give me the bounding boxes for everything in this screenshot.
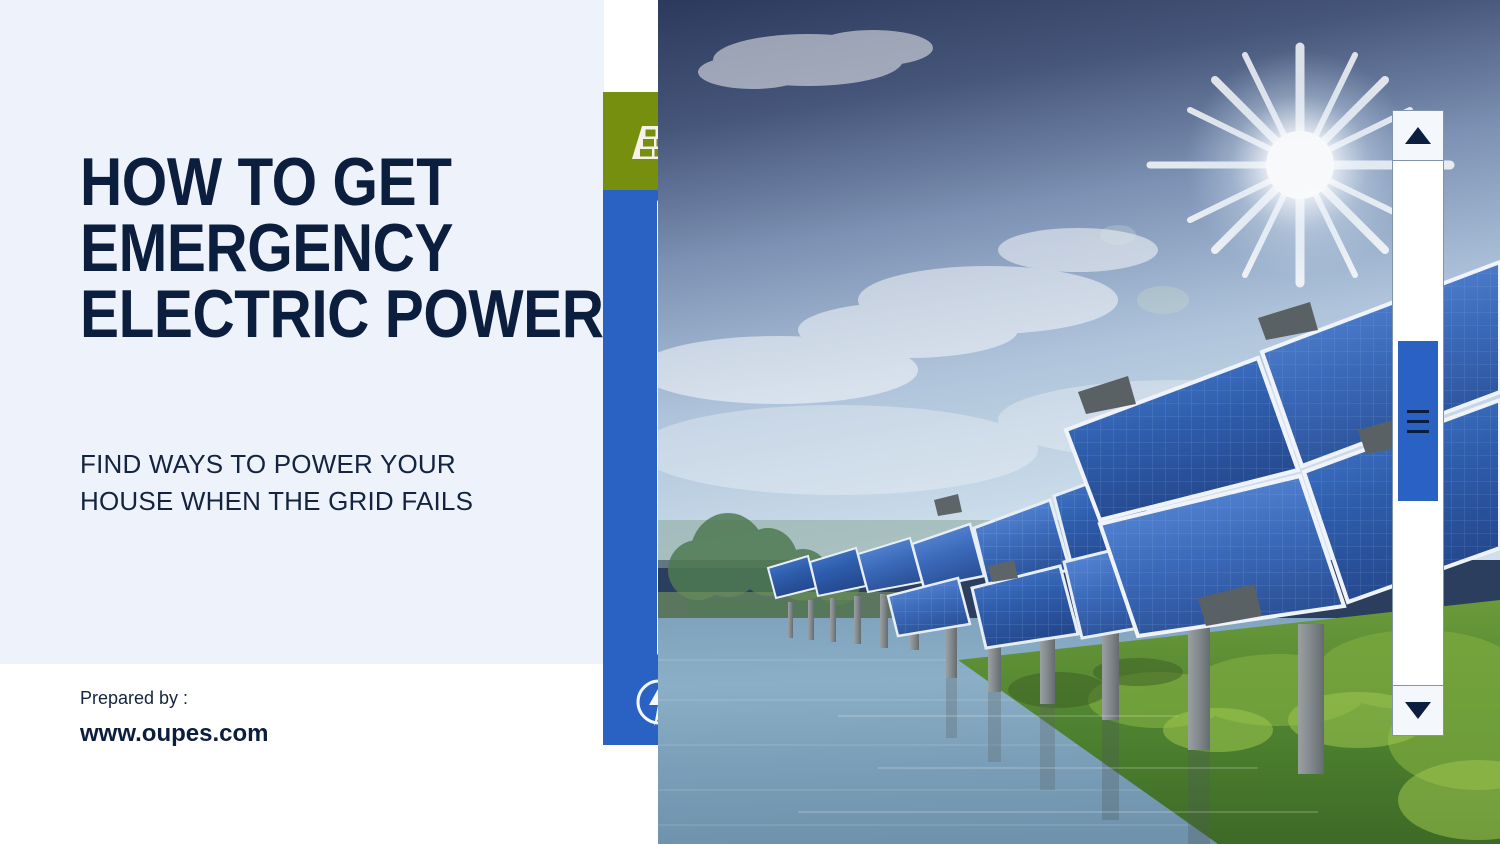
solar-farm-photo (658, 0, 1500, 844)
vertical-scrollbar[interactable] (1392, 110, 1444, 736)
page-title: HOW TO GET EMERGENCY ELECTRIC POWER? (80, 150, 510, 348)
headline-line-2: EMERGENCY (80, 216, 510, 282)
prepared-by-website[interactable]: www.oupes.com (80, 720, 268, 748)
scroll-up-button[interactable] (1393, 111, 1443, 161)
subtitle: FIND WAYS TO POWER YOUR HOUSE WHEN THE G… (80, 446, 500, 520)
scroll-down-button[interactable] (1393, 685, 1443, 735)
headline-line-3: ELECTRIC POWER? (80, 282, 510, 348)
grip-line (1407, 410, 1429, 413)
grip-line (1407, 420, 1429, 423)
prepared-by-label: Prepared by : (80, 688, 188, 709)
presentation-slide: HOW TO GET EMERGENCY ELECTRIC POWER? FIN… (0, 0, 1500, 844)
scrollbar-thumb[interactable] (1398, 341, 1438, 501)
scroll-down-arrow-icon (1405, 702, 1431, 719)
headline-line-1: HOW TO GET (80, 150, 510, 216)
scroll-up-arrow-icon (1405, 127, 1431, 144)
grip-line (1407, 430, 1429, 433)
